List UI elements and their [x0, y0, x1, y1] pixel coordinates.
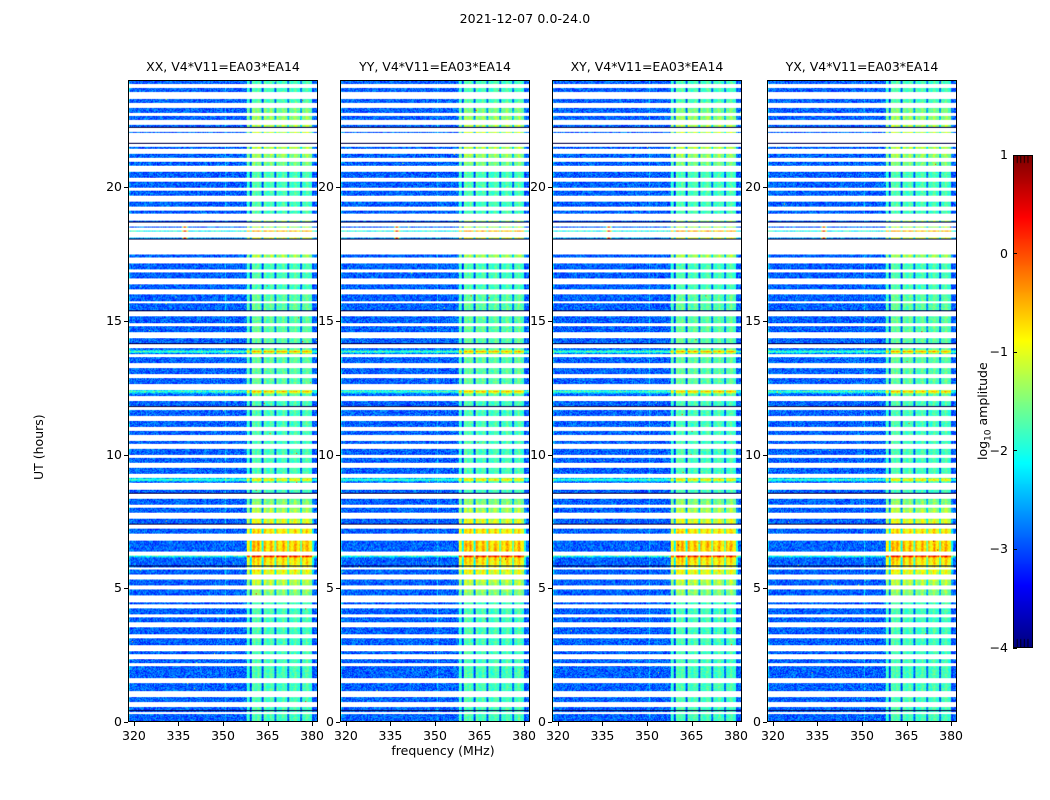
y-tick-label: 10	[510, 447, 546, 462]
colorbar-label-tail: amplitude	[975, 362, 990, 429]
x-tick-label: 350	[203, 728, 243, 743]
x-tick-label: 365	[672, 728, 712, 743]
waterfall-panel-xy[interactable]	[552, 80, 742, 722]
x-tick-label: 350	[415, 728, 455, 743]
y-tick	[124, 187, 128, 188]
figure-suptitle: 2021-12-07 0.0-24.0	[0, 11, 1050, 26]
x-tick	[907, 722, 908, 726]
y-tick-label: 15	[298, 313, 334, 328]
y-tick	[336, 187, 340, 188]
x-tick-label: 350	[842, 728, 882, 743]
x-axis-label: frequency (MHz)	[0, 743, 886, 758]
waterfall-panel-yx[interactable]	[767, 80, 957, 722]
x-tick	[558, 722, 559, 726]
x-tick-label: 320	[753, 728, 793, 743]
y-tick-label: 5	[298, 580, 334, 595]
y-tick-label: 5	[725, 580, 761, 595]
x-tick-label: 335	[370, 728, 410, 743]
y-tick	[763, 187, 767, 188]
colorbar-gradient	[1014, 156, 1032, 647]
x-tick	[390, 722, 391, 726]
x-tick	[346, 722, 347, 726]
y-tick-label: 10	[86, 447, 122, 462]
x-tick	[435, 722, 436, 726]
y-tick-label: 10	[298, 447, 334, 462]
y-tick	[124, 588, 128, 589]
x-tick-label: 365	[887, 728, 927, 743]
x-tick-label: 335	[797, 728, 837, 743]
figure-canvas: 2021-12-07 0.0-24.0 XX, V4*V11=EA03*EA14…	[0, 0, 1050, 800]
panel-title-yx: YX, V4*V11=EA03*EA14	[737, 59, 987, 77]
x-tick	[480, 722, 481, 726]
y-tick	[548, 455, 552, 456]
colorbar-tick	[1013, 155, 1017, 156]
x-tick-label: 320	[326, 728, 366, 743]
x-tick	[951, 722, 952, 726]
y-tick-label: 15	[510, 313, 546, 328]
y-tick-label: 10	[725, 447, 761, 462]
y-axis-label: UT (hours)	[31, 414, 46, 480]
y-tick	[548, 321, 552, 322]
x-tick	[268, 722, 269, 726]
y-tick	[336, 321, 340, 322]
x-tick	[773, 722, 774, 726]
colorbar-tick	[1013, 352, 1017, 353]
panel-title-xy: XY, V4*V11=EA03*EA14	[522, 59, 772, 77]
x-tick-label: 335	[582, 728, 622, 743]
colorbar-tick-label: −1	[978, 344, 1008, 359]
y-tick-label: 20	[86, 179, 122, 194]
y-tick	[763, 722, 767, 723]
x-tick-label: 320	[538, 728, 578, 743]
x-tick	[817, 722, 818, 726]
x-tick	[692, 722, 693, 726]
x-tick-label: 350	[627, 728, 667, 743]
colorbar-label-base: log	[975, 441, 990, 460]
y-tick	[124, 722, 128, 723]
colorbar-label: log10 amplitude	[975, 362, 994, 460]
x-tick	[134, 722, 135, 726]
y-tick-label: 0	[298, 714, 334, 729]
y-tick-label: 5	[86, 580, 122, 595]
colorbar-tick	[1013, 648, 1017, 649]
x-tick	[647, 722, 648, 726]
waterfall-panel-yy[interactable]	[340, 80, 530, 722]
y-tick	[548, 187, 552, 188]
colorbar[interactable]	[1013, 155, 1033, 648]
x-tick	[602, 722, 603, 726]
x-tick-label: 380	[716, 728, 756, 743]
y-tick-label: 0	[510, 714, 546, 729]
y-tick-label: 0	[725, 714, 761, 729]
y-tick-label: 0	[86, 714, 122, 729]
colorbar-tick-label: 0	[978, 246, 1008, 261]
y-tick	[124, 321, 128, 322]
colorbar-tick-label: 1	[978, 147, 1008, 162]
y-tick	[336, 455, 340, 456]
y-tick	[763, 588, 767, 589]
colorbar-label-subscript: 10	[984, 429, 994, 440]
x-tick-label: 320	[114, 728, 154, 743]
waterfall-image-xx	[129, 81, 317, 721]
y-tick-label: 20	[725, 179, 761, 194]
y-tick	[124, 455, 128, 456]
colorbar-tick-label: −4	[978, 640, 1008, 655]
colorbar-tick	[1013, 450, 1017, 451]
x-tick-label: 335	[158, 728, 198, 743]
x-tick-label: 380	[931, 728, 971, 743]
colorbar-tick-label: −3	[978, 541, 1008, 556]
waterfall-image-xy	[553, 81, 741, 721]
y-tick	[763, 455, 767, 456]
y-tick	[548, 588, 552, 589]
x-tick-label: 365	[460, 728, 500, 743]
y-tick-label: 20	[510, 179, 546, 194]
colorbar-tick	[1013, 549, 1017, 550]
y-tick-label: 20	[298, 179, 334, 194]
x-tick	[862, 722, 863, 726]
y-tick-label: 5	[510, 580, 546, 595]
colorbar-tick	[1013, 253, 1017, 254]
y-tick	[763, 321, 767, 322]
y-tick	[336, 588, 340, 589]
x-tick-label: 365	[248, 728, 288, 743]
waterfall-image-yy	[341, 81, 529, 721]
x-tick	[223, 722, 224, 726]
waterfall-panel-xx[interactable]	[128, 80, 318, 722]
y-tick-label: 15	[86, 313, 122, 328]
x-tick	[178, 722, 179, 726]
y-tick	[336, 722, 340, 723]
y-tick-label: 15	[725, 313, 761, 328]
y-tick	[548, 722, 552, 723]
waterfall-image-yx	[768, 81, 956, 721]
